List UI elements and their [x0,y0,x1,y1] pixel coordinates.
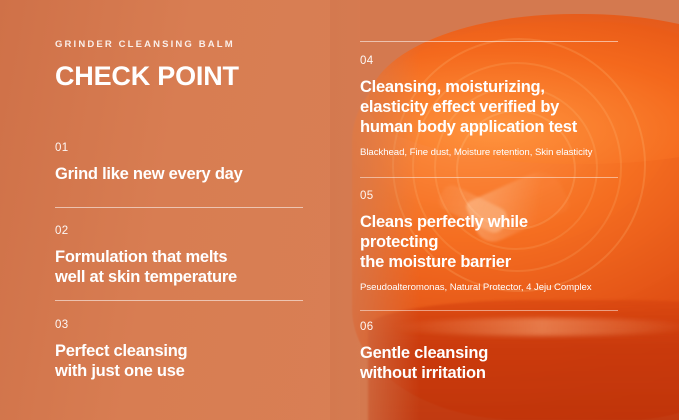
item-number: 05 [360,191,618,203]
promo-infographic: GRINDER CLEANSING BALM CHECK POINT 01 Gr… [0,0,679,420]
item-number: 04 [360,56,618,68]
header-block: GRINDER CLEANSING BALM CHECK POINT [55,40,303,90]
brand-eyebrow: GRINDER CLEANSING BALM [55,40,303,50]
divider-right-2 [360,310,618,311]
item-title: Formulation that meltswell at skin tempe… [55,247,303,287]
item-number: 06 [360,322,618,334]
list-item-04: 04 Cleansing, moisturizing,elasticity ef… [360,56,618,159]
list-item-01: 01 Grind like new every day [55,143,303,184]
list-item-02: 02 Formulation that meltswell at skin te… [55,226,303,287]
page-title: CHECK POINT [55,63,303,90]
item-subtitle: Pseudoalteromonas, Natural Protector, 4 … [360,282,618,294]
divider-left-2 [55,300,303,301]
divider-left-1 [55,207,303,208]
list-item-03: 03 Perfect cleansingwith just one use [55,320,303,381]
item-title: Grind like new every day [55,164,303,184]
item-title: Cleansing, moisturizing,elasticity effec… [360,77,618,137]
item-number: 03 [55,320,303,332]
list-item-05: 05 Cleans perfectly whileprotectingthe m… [360,191,618,294]
item-title: Gentle cleansingwithout irritation [360,343,618,383]
item-subtitle: Blackhead, Fine dust, Moisture retention… [360,147,618,159]
item-number: 02 [55,226,303,238]
list-item-06: 06 Gentle cleansingwithout irritation [360,322,618,383]
item-title: Cleans perfectly whileprotectingthe mois… [360,212,618,272]
item-title: Perfect cleansingwith just one use [55,341,303,381]
divider-right-top [360,41,618,42]
item-number: 01 [55,143,303,155]
content-layer: GRINDER CLEANSING BALM CHECK POINT 01 Gr… [0,0,679,420]
divider-right-1 [360,177,618,178]
